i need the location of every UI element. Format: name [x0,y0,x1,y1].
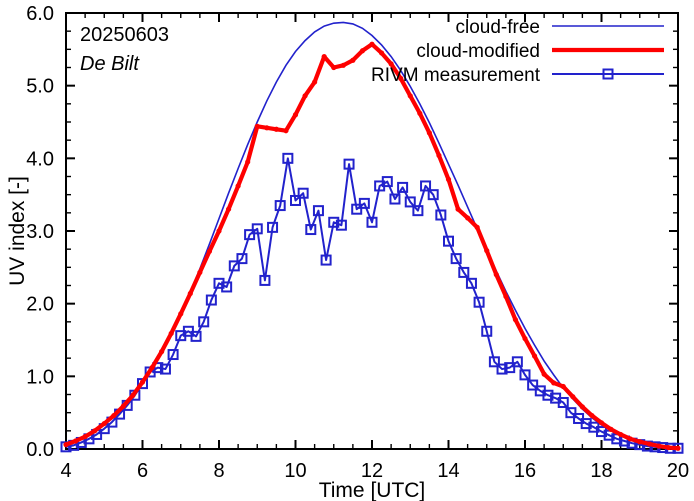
cloud-modified-data-point [551,380,556,385]
x-tick-label: 16 [514,460,536,482]
cloud-modified-data-point [188,291,193,296]
y-tick-label: 5.0 [26,76,54,98]
annotation-station: De Bilt [80,53,140,75]
legend-label-2: RIVM measurement [371,65,541,86]
cloud-modified-data-point [63,442,68,447]
cloud-modified-data-point [197,270,202,275]
cloud-modified-data-point [159,349,164,354]
legend-label-1: cloud-modified [416,41,540,62]
series-cloud-modified-line [66,44,678,448]
cloud-modified-data-point [216,228,221,233]
cloud-modified-data-point [312,79,317,84]
cloud-modified-data-point [350,58,355,63]
cloud-modified-data-point [484,248,489,253]
cloud-modified-data-point [379,50,384,55]
cloud-modified-data-point [255,124,260,129]
cloud-modified-data-point [647,441,652,446]
cloud-modified-data-point [331,65,336,70]
cloud-modified-data-point [369,42,374,47]
cloud-modified-data-point [532,353,537,358]
cloud-modified-data-point [236,183,241,188]
cloud-modified-data-point [561,384,566,389]
cloud-modified-data-point [513,317,518,322]
cloud-modified-data-point [446,177,451,182]
y-tick-label: 6.0 [26,3,54,25]
cloud-modified-data-point [628,436,633,441]
cloud-modified-data-point [522,336,527,341]
cloud-modified-data-point [475,225,480,230]
x-tick-label: 6 [137,460,148,482]
series-rivm-measurement-line [66,158,678,448]
x-tick-label: 4 [60,460,71,482]
x-tick-label: 18 [590,460,612,482]
y-tick-label: 1.0 [26,366,54,388]
cloud-modified-data-point [455,207,460,212]
cloud-modified-data-point [503,294,508,299]
cloud-modified-data-point [322,54,327,59]
cloud-modified-data-point [111,413,116,418]
cloud-modified-data-point [121,404,126,409]
cloud-modified-data-point [589,413,594,418]
x-tick-label: 8 [213,460,224,482]
cloud-modified-data-point [92,428,97,433]
cloud-modified-data-point [264,125,269,130]
cloud-modified-data-point [149,365,154,370]
cloud-modified-data-point [102,421,107,426]
cloud-modified-data-point [427,130,432,135]
y-tick-label: 0.0 [26,439,54,461]
cloud-modified-data-point [302,93,307,98]
cloud-modified-data-point [580,404,585,409]
cloud-modified-data-point [637,439,642,444]
x-tick-label: 10 [284,460,306,482]
cloud-modified-data-point [293,112,298,117]
chart-legend: cloud-freecloud-modifiedRIVM measurement [371,17,664,86]
cloud-modified-data-point [465,215,470,220]
cloud-modified-data-point [83,434,88,439]
cloud-modified-data-point [542,372,547,377]
data-series-group [62,22,683,452]
cloud-modified-data-point [226,207,231,212]
uv-index-chart-figure: 4681012141618200.01.02.03.04.05.06.0 UV … [0,0,694,501]
x-axis-title: Time [UTC] [319,479,426,501]
cloud-modified-data-point [618,432,623,437]
cloud-modified-data-point [140,380,145,385]
cloud-modified-data-point [570,394,575,399]
cloud-modified-data-point [608,427,613,432]
cloud-modified-data-point [599,420,604,425]
cloud-modified-data-point [274,127,279,132]
cloud-modified-data-point [494,272,499,277]
y-tick-label: 2.0 [26,294,54,316]
cloud-modified-data-point [283,128,288,133]
cloud-modified-data-point [245,159,250,164]
cloud-modified-data-point [178,311,183,316]
x-tick-label: 14 [437,460,459,482]
cloud-modified-data-point [666,445,671,450]
chart-canvas: 4681012141618200.01.02.03.04.05.06.0 UV … [0,0,694,501]
annotation-date: 20250603 [80,24,169,46]
cloud-modified-data-point [417,111,422,116]
x-tick-label: 20 [667,460,689,482]
cloud-modified-data-point [656,443,661,448]
cloud-modified-data-point [675,446,680,451]
cloud-modified-data-point [169,331,174,336]
legend-label-0: cloud-free [456,17,541,38]
cloud-modified-data-point [207,249,212,254]
cloud-modified-data-point [73,438,78,443]
y-tick-label: 3.0 [26,221,54,243]
cloud-modified-data-point [408,93,413,98]
cloud-modified-data-point [341,63,346,68]
y-tick-label: 4.0 [26,148,54,170]
cloud-modified-data-point [436,153,441,158]
cloud-modified-data-point [130,393,135,398]
series-cloud-free-line [66,22,678,448]
cloud-modified-data-point [360,48,365,53]
y-axis-title: UV index [-] [6,176,29,286]
